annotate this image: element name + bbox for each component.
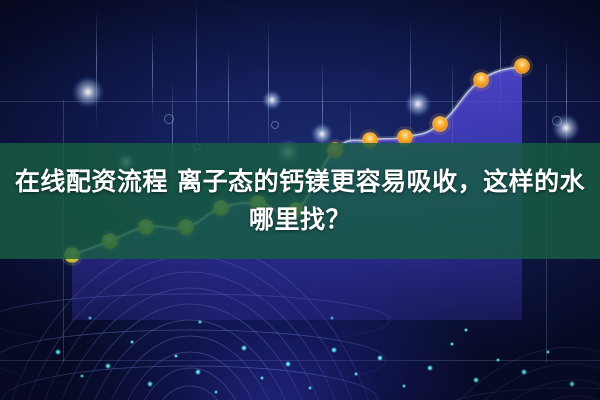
- caption-band: 在线配资流程 离子态的钙镁更容易吸收，这样的水 哪里找？: [0, 143, 600, 259]
- banner-image: 在线配资流程 离子态的钙镁更容易吸收，这样的水 哪里找？: [0, 0, 600, 400]
- caption-text: 在线配资流程 离子态的钙镁更容易吸收，这样的水 哪里找？: [8, 163, 592, 239]
- caption-line-1: 在线配资流程 离子态的钙镁更容易吸收，这样的水: [15, 167, 585, 196]
- caption-line-2: 哪里找？: [249, 205, 351, 234]
